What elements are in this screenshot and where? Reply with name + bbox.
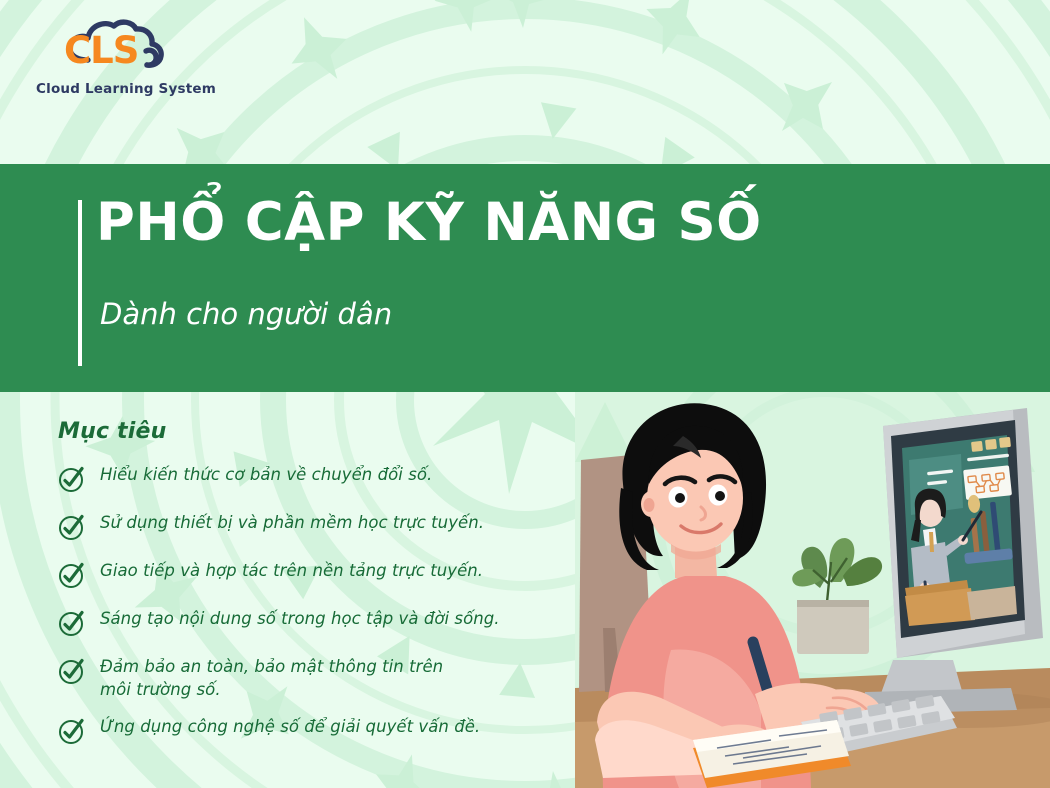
poster-canvas: CLS Cloud Learning System PHỔ CẬP KỸ NĂN… — [0, 0, 1050, 788]
list-item: Sử dụng thiết bị và phần mềm học trực tu… — [58, 512, 563, 541]
list-item: Hiểu kiến thức cơ bản về chuyển đổi số. — [58, 464, 563, 493]
woman-learning-online-illustration — [575, 392, 1050, 788]
goal-text: Giao tiếp và hợp tác trên nền tảng trực … — [100, 560, 483, 583]
list-item: Ứng dụng công nghệ số để giải quyết vấn … — [58, 716, 563, 745]
goal-text: Sáng tạo nội dung số trong học tập và đờ… — [100, 608, 500, 631]
check-circle-icon — [58, 513, 86, 541]
page-subtitle: Dành cho người dân — [100, 297, 392, 331]
check-circle-icon — [58, 465, 86, 493]
list-item: Đảm bảo an toàn, bảo mật thông tin trên … — [58, 656, 563, 702]
brand-logo[interactable]: CLS Cloud Learning System — [26, 14, 226, 104]
goals-section: Mục tiêu Hiểu kiến thức cơ bản về chuyển… — [0, 392, 575, 788]
goal-text: Sử dụng thiết bị và phần mềm học trực tu… — [100, 512, 484, 535]
goals-list: Hiểu kiến thức cơ bản về chuyển đổi số. … — [58, 464, 563, 764]
page-title: PHỔ CẬP KỸ NĂNG SỐ — [96, 195, 762, 251]
goals-heading: Mục tiêu — [58, 419, 167, 444]
goal-text: Hiểu kiến thức cơ bản về chuyển đổi số. — [100, 464, 432, 487]
check-circle-icon — [58, 657, 86, 685]
list-item: Sáng tạo nội dung số trong học tập và đờ… — [58, 608, 563, 637]
check-circle-icon — [58, 561, 86, 589]
banner-accent-rule — [78, 200, 82, 366]
goal-text: Đảm bảo an toàn, bảo mật thông tin trên … — [100, 656, 455, 702]
cloud-cls-logo-icon: CLS — [52, 16, 172, 82]
goal-text: Ứng dụng công nghệ số để giải quyết vấn … — [100, 716, 480, 739]
check-circle-icon — [58, 717, 86, 745]
list-item: Giao tiếp và hợp tác trên nền tảng trực … — [58, 560, 563, 589]
brand-name: Cloud Learning System — [26, 81, 226, 97]
svg-text:CLS: CLS — [64, 29, 138, 72]
check-circle-icon — [58, 609, 86, 637]
